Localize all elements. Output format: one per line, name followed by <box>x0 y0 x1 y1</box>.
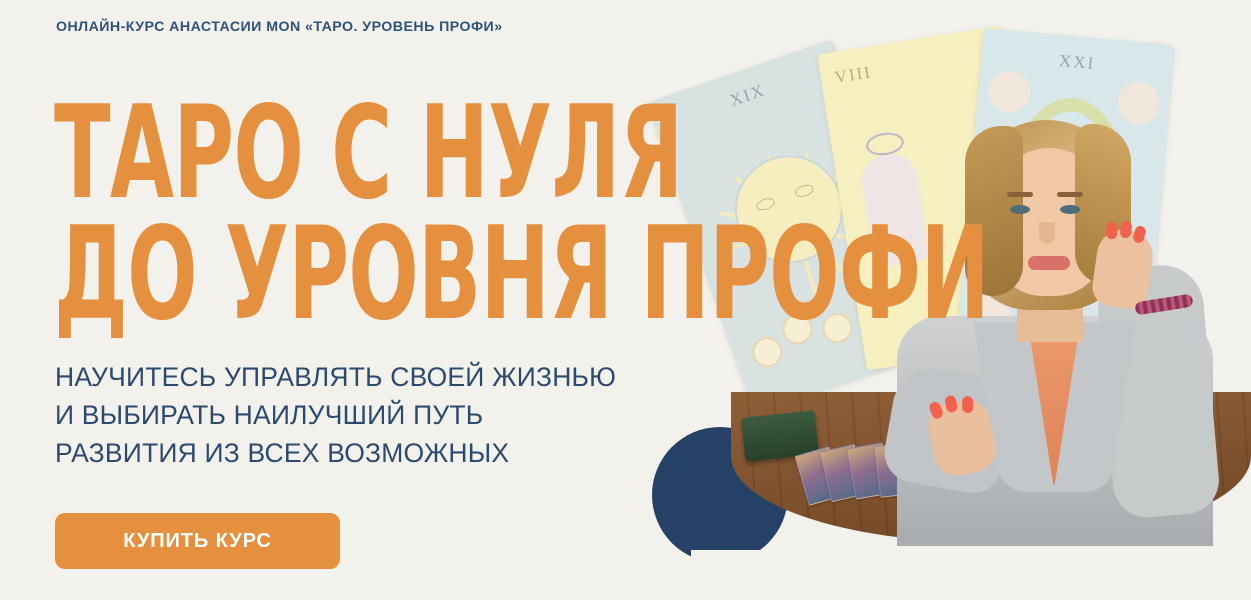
subtitle-line-3: РАЗВИТИЯ ИЗ ВСЕХ ВОЗМОЖНЫХ <box>55 434 616 472</box>
the-world-card-numeral: XXI <box>981 44 1174 81</box>
hand-holding-cards <box>924 396 1000 479</box>
hero-subtitle: НАУЧИТЕСЬ УПРАВЛЯТЬ СВОЕЙ ЖИЗНЬЮ И ВЫБИР… <box>55 358 616 472</box>
headline-line-1: ТАРО С НУЛЯ <box>54 99 989 209</box>
photo-bottom-fade <box>691 550 1251 600</box>
strength-card-numeral: VIII <box>820 41 1007 90</box>
navy-circle-decoration <box>652 427 788 563</box>
hero-section: ОНЛАЙН-КУРС АНАСТАСИИ MON «ТАРО. УРОВЕНЬ… <box>0 0 1251 600</box>
subtitle-line-2: И ВЫБИРАТЬ НАИЛУЧШИЙ ПУТЬ <box>55 396 616 434</box>
subtitle-line-1: НАУЧИТЕСЬ УПРАВЛЯТЬ СВОЕЙ ЖИЗНЬЮ <box>55 358 616 396</box>
card-spread <box>801 442 1191 498</box>
wooden-table <box>731 392 1251 542</box>
buy-course-button[interactable]: КУПИТЬ КУРС <box>55 513 340 569</box>
page-title: ТАРО С НУЛЯ ДО УРОВНЯ ПРОФИ <box>54 99 1251 329</box>
course-kicker: ОНЛАЙН-КУРС АНАСТАСИИ MON «ТАРО. УРОВЕНЬ… <box>56 19 503 35</box>
headline-line-2: ДО УРОВНЯ ПРОФИ <box>54 220 989 330</box>
